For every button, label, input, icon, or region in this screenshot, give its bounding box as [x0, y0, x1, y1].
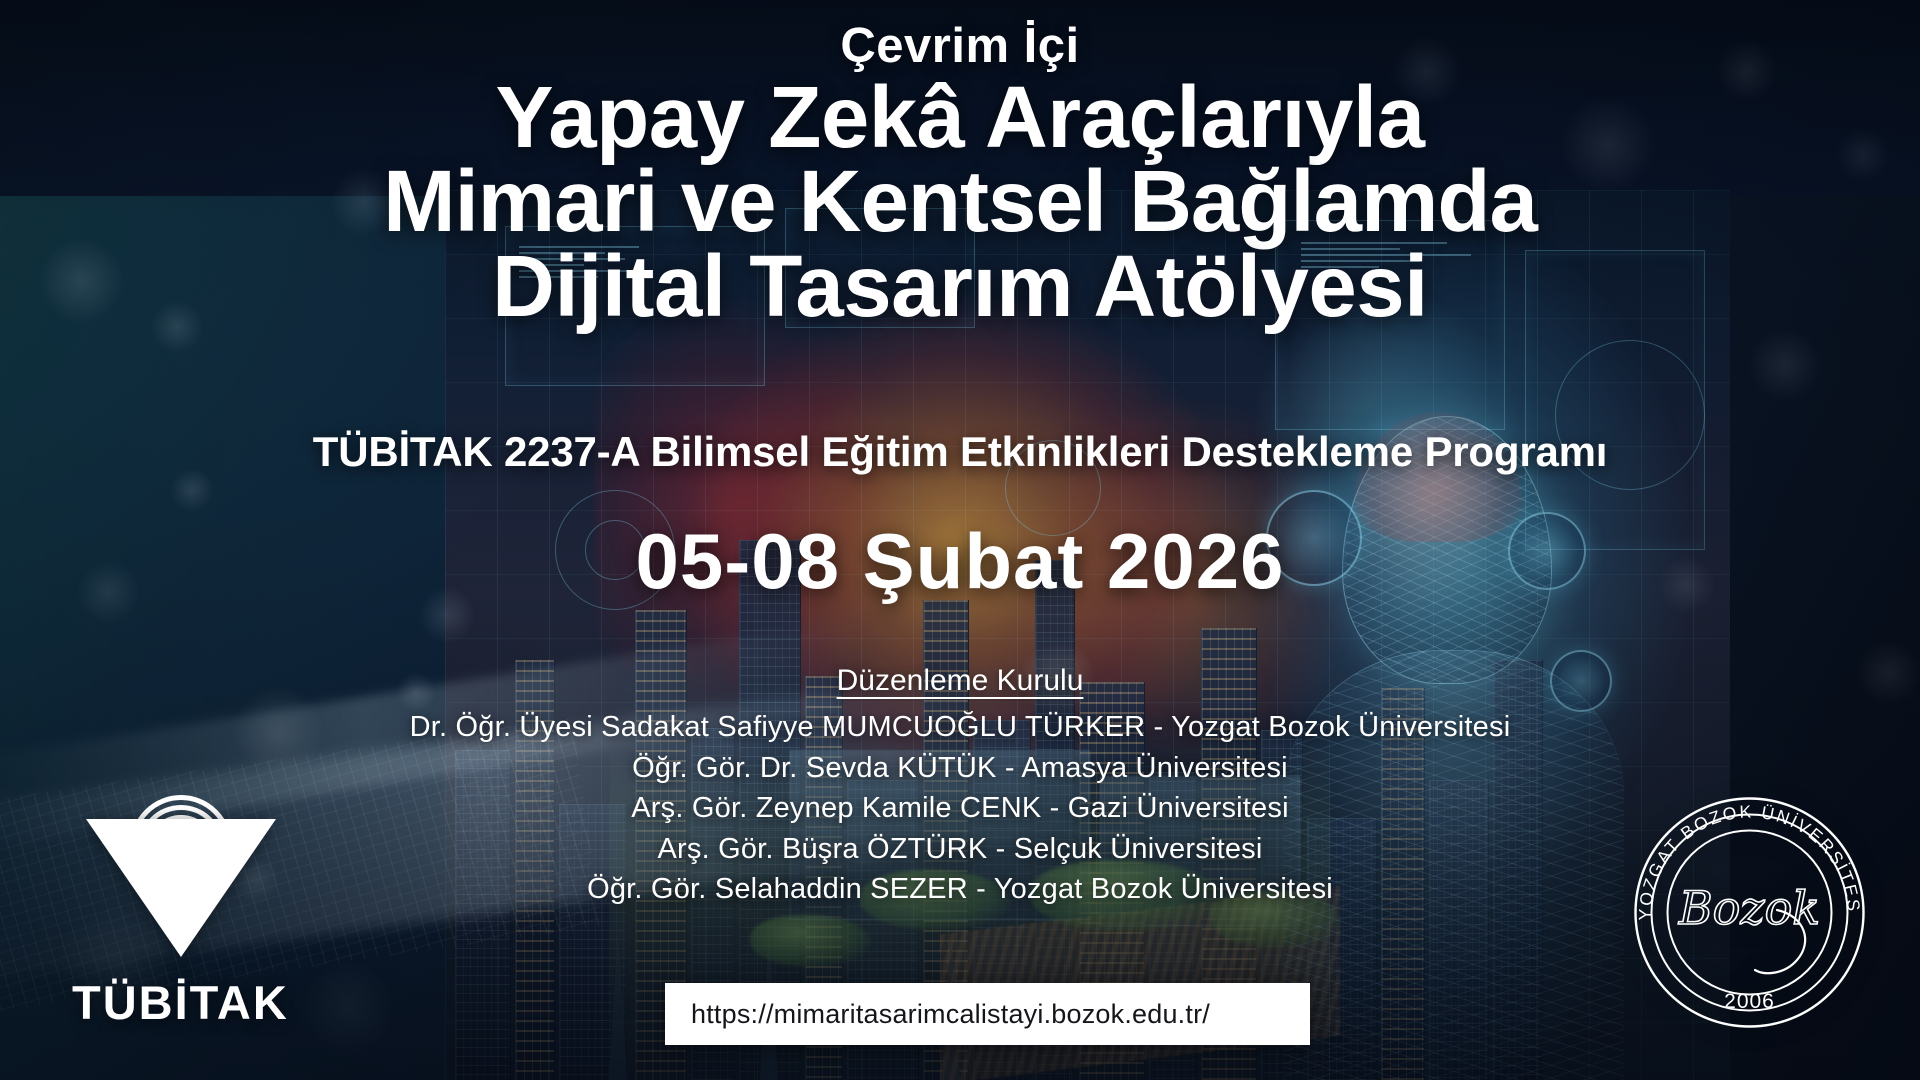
tubitak-logo: TÜBİTAK	[72, 795, 287, 1045]
bozok-university-seal-icon: YOZGAT BOZOK ÜNİVERSİTESİ 2006 Bozok	[1627, 790, 1872, 1035]
title-block: Çevrim İçi Yapay Zekâ Araçlarıyla Mimari…	[0, 22, 1920, 329]
committee-member: Öğr. Gör. Dr. Sevda KÜTÜK - Amasya Ünive…	[0, 748, 1920, 789]
event-poster: Çevrim İçi Yapay Zekâ Araçlarıyla Mimari…	[0, 0, 1920, 1080]
seal-script-text: Bozok	[1678, 881, 1820, 935]
main-title: Yapay Zekâ Araçlarıyla Mimari ve Kentsel…	[0, 76, 1920, 329]
website-url-plate[interactable]: https://mimaritasarimcalistayi.bozok.edu…	[665, 983, 1310, 1045]
title-line-2: Mimari ve Kentsel Bağlamda	[0, 160, 1920, 244]
tubitak-wordmark: TÜBİTAK	[72, 975, 287, 1030]
committee-heading: Düzenleme Kurulu	[0, 664, 1920, 698]
tubitak-mark-icon	[86, 795, 276, 960]
title-line-3: Dijital Tasarım Atölyesi	[0, 245, 1920, 329]
committee-member: Dr. Öğr. Üyesi Sadakat Safiyye MUMCUOĞLU…	[0, 707, 1920, 748]
pretitle: Çevrim İçi	[0, 22, 1920, 72]
event-date: 05-08 Şubat 2026	[0, 516, 1920, 607]
seal-year: 2006	[1724, 990, 1775, 1013]
poster-content: Çevrim İçi Yapay Zekâ Araçlarıyla Mimari…	[0, 0, 1920, 1080]
program-subtitle: TÜBİTAK 2237-A Bilimsel Eğitim Etkinlikl…	[0, 428, 1920, 476]
title-line-1: Yapay Zekâ Araçlarıyla	[0, 76, 1920, 160]
website-url-text[interactable]: https://mimaritasarimcalistayi.bozok.edu…	[665, 999, 1210, 1030]
